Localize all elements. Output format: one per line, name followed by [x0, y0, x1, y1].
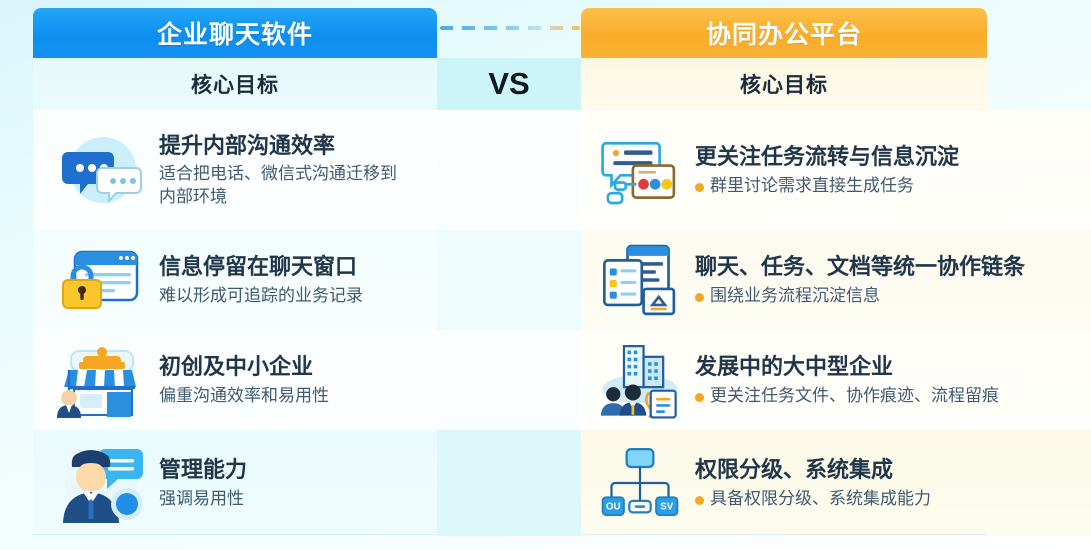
left-subheader: 核心目标 — [33, 58, 437, 110]
right-row-3-text: 发展中的大中型企业 更关注任务文件、协作痕迹、流程留痕 — [683, 353, 1091, 407]
chat-bubbles-icon — [55, 124, 147, 216]
manager-avatar-icon — [55, 437, 147, 529]
right-row-2-text: 聊天、任务、文档等统一协作链条 围绕业务流程沉淀信息 — [683, 253, 1091, 307]
right-subheader-label: 核心目标 — [740, 69, 828, 99]
left-row-1[interactable]: 提升内部沟通效率 适合把电话、微信式沟通迁移到内部环境 — [33, 110, 437, 230]
right-divider-4 — [581, 534, 987, 535]
left-row-2[interactable]: 信息停留在聊天窗口 难以形成可追踪的业务记录 — [33, 230, 437, 330]
right-row-1-text: 更关注任务流转与信息沉淀 群里讨论需求直接生成任务 — [683, 143, 1091, 197]
storefront-icon — [55, 334, 147, 426]
right-item-title: 更关注任务流转与信息沉淀 — [695, 143, 1091, 171]
middle-band-2 — [437, 230, 581, 330]
right-item-title: 发展中的大中型企业 — [695, 353, 1091, 381]
svg-text:OU: OU — [606, 502, 621, 513]
left-item-title: 初创及中小企业 — [159, 353, 437, 381]
right-item-desc: 具备权限分级、系统集成能力 — [710, 488, 931, 510]
right-item-title: 权限分级、系统集成 — [695, 456, 1091, 484]
left-row-1-text: 提升内部沟通效率 适合把电话、微信式沟通迁移到内部环境 — [147, 132, 437, 208]
bullet-dot-icon — [695, 293, 704, 302]
left-row-3-text: 初创及中小企业 偏重沟通效率和易用性 — [147, 353, 437, 407]
left-subheader-label: 核心目标 — [191, 69, 279, 99]
chat-board-icon — [597, 129, 683, 211]
right-item-desc-row: 更关注任务文件、协作痕迹、流程留痕 — [695, 385, 1091, 407]
right-row-4[interactable]: OU SV 权限分级、系统集成 具备权限分级、系统集成能力 — [581, 430, 1091, 536]
left-row-3[interactable]: 初创及中小企业 偏重沟通效率和易用性 — [33, 330, 437, 430]
right-column-title: 协同办公平台 — [706, 15, 862, 51]
left-row-2-text: 信息停留在聊天窗口 难以形成可追踪的业务记录 — [147, 253, 437, 307]
right-row-3[interactable]: 发展中的大中型企业 更关注任务文件、协作痕迹、流程留痕 — [581, 330, 1091, 430]
right-item-desc: 更关注任务文件、协作痕迹、流程留痕 — [710, 385, 999, 407]
left-row-4[interactable]: 管理能力 强调易用性 — [33, 430, 437, 536]
enterprise-team-icon — [597, 339, 683, 421]
left-column-title: 企业聊天软件 — [157, 15, 313, 51]
right-row-2[interactable]: 聊天、任务、文档等统一协作链条 围绕业务流程沉淀信息 — [581, 230, 1091, 330]
org-hierarchy-icon: OU SV — [597, 442, 683, 524]
left-item-title: 提升内部沟通效率 — [159, 132, 437, 160]
left-item-desc: 难以形成可追踪的业务记录 — [159, 285, 437, 307]
middle-band-3 — [437, 330, 581, 430]
left-item-title: 信息停留在聊天窗口 — [159, 253, 437, 281]
right-item-desc: 群里讨论需求直接生成任务 — [710, 175, 914, 197]
right-column-header: 协同办公平台 — [581, 8, 987, 58]
left-item-desc: 适合把电话、微信式沟通迁移到内部环境 — [159, 163, 404, 208]
comparison-board: 企业聊天软件 协同办公平台 核心目标 VS 核心目标 提升内部沟通效率 适合把 — [0, 0, 1091, 550]
documents-stack-icon — [597, 239, 683, 321]
left-row-4-text: 管理能力 强调易用性 — [147, 456, 437, 510]
right-row-4-text: 权限分级、系统集成 具备权限分级、系统集成能力 — [683, 456, 1091, 510]
vs-dashed-connector — [440, 26, 580, 30]
left-divider-4 — [33, 534, 437, 535]
right-item-desc-row: 群里讨论需求直接生成任务 — [695, 175, 1091, 197]
left-item-desc: 强调易用性 — [159, 488, 437, 510]
right-row-1[interactable]: 更关注任务流转与信息沉淀 群里讨论需求直接生成任务 — [581, 110, 1091, 230]
right-subheader: 核心目标 — [581, 58, 987, 110]
window-lock-icon — [55, 234, 147, 326]
right-item-title: 聊天、任务、文档等统一协作链条 — [695, 253, 1091, 281]
bullet-dot-icon — [695, 496, 704, 505]
right-item-desc-row: 围绕业务流程沉淀信息 — [695, 285, 1091, 307]
middle-band-1 — [437, 110, 581, 230]
vs-label: VS — [488, 66, 529, 102]
bullet-dot-icon — [695, 183, 704, 192]
svg-text:SV: SV — [660, 502, 674, 513]
left-item-title: 管理能力 — [159, 456, 437, 484]
right-item-desc: 围绕业务流程沉淀信息 — [710, 285, 880, 307]
right-item-desc-row: 具备权限分级、系统集成能力 — [695, 488, 1091, 510]
vs-badge: VS — [437, 58, 581, 110]
middle-band-4 — [437, 430, 581, 536]
bullet-dot-icon — [695, 393, 704, 402]
left-column-header: 企业聊天软件 — [33, 8, 437, 58]
left-item-desc: 偏重沟通效率和易用性 — [159, 385, 437, 407]
